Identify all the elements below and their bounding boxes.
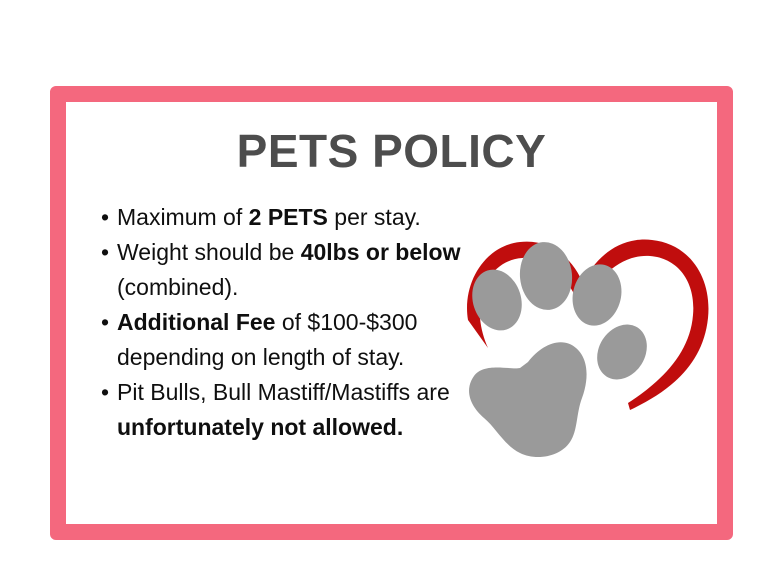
policy-list: •Maximum of 2 PETS per stay.•Weight shou… — [98, 200, 478, 445]
list-item: •Pit Bulls, Bull Mastiff/Mastiffs are un… — [98, 375, 478, 445]
emphasis-text: Additional Fee — [117, 309, 275, 335]
bullet-dot-icon: • — [101, 235, 109, 270]
plain-text: Pit Bulls, Bull Mastiff/Mastiffs are — [117, 379, 450, 405]
list-item-label: Pit Bulls, Bull Mastiff/Mastiffs are unf… — [117, 375, 478, 445]
list-item: •Maximum of 2 PETS per stay. — [98, 200, 478, 235]
emphasis-text: unfortunately not allowed. — [117, 414, 403, 440]
paw-main-pad — [469, 342, 587, 457]
list-item: •Weight should be 40lbs or below (combin… — [98, 235, 478, 305]
list-item-label: Additional Fee of $100-$300 depending on… — [117, 305, 478, 375]
bullet-dot-icon: • — [101, 305, 109, 340]
bullet-dot-icon: • — [101, 200, 109, 235]
emphasis-text: 2 PETS — [249, 204, 328, 230]
list-item: •Additional Fee of $100-$300 depending o… — [98, 305, 478, 375]
list-item-label: Maximum of 2 PETS per stay. — [117, 200, 478, 235]
plain-text: Maximum of — [117, 204, 249, 230]
plain-text: (combined). — [117, 274, 238, 300]
plain-text: per stay. — [328, 204, 421, 230]
list-item-label: Weight should be 40lbs or below (combine… — [117, 235, 478, 305]
page-title: PETS POLICY — [50, 128, 733, 174]
paw-toe-pad-4 — [587, 315, 657, 389]
heart-paw-logo — [462, 232, 712, 464]
plain-text: Weight should be — [117, 239, 301, 265]
emphasis-text: 40lbs or below — [301, 239, 461, 265]
bullet-dot-icon: • — [101, 375, 109, 410]
pets-policy-poster: PETS POLICY •Maximum of 2 PETS per stay.… — [0, 0, 784, 588]
